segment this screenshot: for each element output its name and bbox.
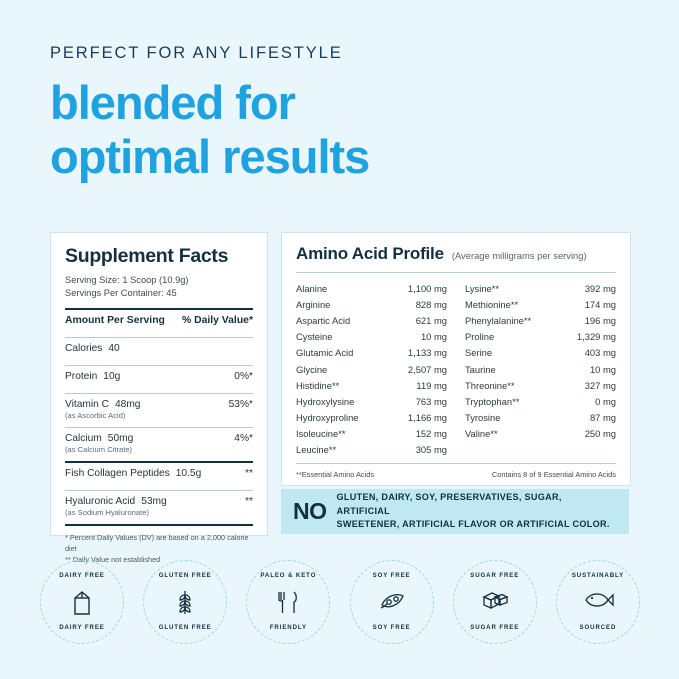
badge-bottom-label: SOY FREE <box>350 624 434 631</box>
amino-name: Methionine** <box>465 299 518 310</box>
amino-footnote-right: Contains 8 of 9 Essential Amino Acids <box>492 470 616 479</box>
amino-row: Histidine**119 mg <box>296 377 447 393</box>
badge-bottom-label: SOURCED <box>556 624 640 631</box>
amino-value: 828 mg <box>416 299 447 310</box>
headline-line-2: optimal results <box>50 133 369 181</box>
amino-row: Tyrosine87 mg <box>465 410 616 426</box>
amino-row: Proline1,329 mg <box>465 329 616 345</box>
headline-line-1: blended for <box>50 79 369 127</box>
badge-paleo-keto-friendly: PALEO & KETO FRIENDLY <box>246 560 330 644</box>
nutrient-name: Vitamin C <box>65 399 109 410</box>
amino-value: 327 mg <box>585 380 616 391</box>
amino-value: 305 mg <box>416 444 447 455</box>
nutrient-name: Calories <box>65 343 102 354</box>
amino-footnote-left: **Essential Amino Acids <box>296 470 374 479</box>
badge-top-label: SUGAR FREE <box>453 572 537 579</box>
amino-value: 196 mg <box>585 315 616 326</box>
amino-name: Taurine <box>465 364 496 375</box>
amino-name: Valine** <box>465 428 498 439</box>
supplement-facts-panel: Supplement Facts Serving Size: 1 Scoop (… <box>50 232 268 536</box>
amino-row: Valine**250 mg <box>465 426 616 442</box>
amino-row: Phenylalanine**196 mg <box>465 312 616 328</box>
amino-row: Glutamic Acid1,133 mg <box>296 345 447 361</box>
amino-value: 152 mg <box>416 428 447 439</box>
table-row: Calories40 <box>65 338 253 358</box>
nutrient-name: Hyaluronic Acid <box>65 496 135 507</box>
amino-name: Serine <box>465 347 492 358</box>
amino-row: Isoleucine**152 mg <box>296 426 447 442</box>
badge-soy-free: SOY FREE SOY FREE <box>350 560 434 644</box>
badge-sustainably-sourced: SUSTAINABLY SOURCED <box>556 560 640 644</box>
amino-name: Glycine <box>296 364 327 375</box>
amino-name: Leucine** <box>296 444 336 455</box>
nutrient-dv: 4%* <box>234 433 253 444</box>
amino-name: Cysteine <box>296 331 332 342</box>
badge-top-label: DAIRY FREE <box>40 572 124 579</box>
no-word: NO <box>293 498 327 525</box>
nutrient-dv: ** <box>245 468 253 479</box>
amino-name: Isoleucine** <box>296 428 346 439</box>
table-row: Fish Collagen Peptides10.5g ** <box>65 463 253 483</box>
amino-name: Arginine <box>296 299 330 310</box>
wheat-icon <box>143 587 227 622</box>
amino-name: Proline <box>465 331 494 342</box>
amino-name: Aspartic Acid <box>296 315 350 326</box>
nutrient-dv: ** <box>245 496 253 507</box>
amino-profile-note: (Average milligrams per serving) <box>452 250 587 261</box>
amino-value: 1,100 mg <box>408 283 447 294</box>
certification-badges: DAIRY FREE DAIRY FREE GLUTEN FREE <box>40 560 640 658</box>
footnote-daily-values: * Percent Daily Values (DV) are based on… <box>65 533 253 555</box>
nutrient-amount: 10g <box>97 371 120 382</box>
amino-name: Alanine <box>296 283 327 294</box>
amino-row: Tryptophan**0 mg <box>465 393 616 409</box>
amino-row: Alanine1,100 mg <box>296 280 447 296</box>
badge-top-label: SUSTAINABLY <box>556 572 640 579</box>
fork-knife-icon <box>246 587 330 622</box>
amino-row: Lysine**392 mg <box>465 280 616 296</box>
badge-dairy-free: DAIRY FREE DAIRY FREE <box>40 560 124 644</box>
amino-row: Methionine**174 mg <box>465 296 616 312</box>
amino-value: 392 mg <box>585 283 616 294</box>
no-text-line-2: SWEETENER, ARTIFICIAL FLAVOR OR ARTIFICI… <box>337 519 610 529</box>
servings-per-container: Servings Per Container: 45 <box>65 287 253 300</box>
badge-top-label: PALEO & KETO <box>246 572 330 579</box>
no-ingredients-banner: NO GLUTEN, DAIRY, SOY, PRESERVATIVES, SU… <box>281 489 629 534</box>
fish-icon <box>556 587 640 618</box>
amino-value: 87 mg <box>590 412 616 423</box>
nutrient-amount: 10.5g <box>170 468 202 479</box>
table-row: Protein10g 0%* <box>65 366 253 386</box>
amino-name: Tyrosine <box>465 412 500 423</box>
col-daily-value: % Daily Value* <box>182 315 253 326</box>
badge-bottom-label: DAIRY FREE <box>40 624 124 631</box>
amino-column-left: Alanine1,100 mg Arginine828 mg Aspartic … <box>296 280 447 458</box>
amino-name: Tryptophan** <box>465 396 519 407</box>
amino-name: Phenylalanine** <box>465 315 531 326</box>
amino-row: Hydroxylysine763 mg <box>296 393 447 409</box>
amino-value: 10 mg <box>590 364 616 375</box>
amino-row: Arginine828 mg <box>296 296 447 312</box>
eyebrow-text: PERFECT FOR ANY LIFESTYLE <box>50 44 369 63</box>
nutrient-amount: 48mg <box>109 399 140 410</box>
headline-block: PERFECT FOR ANY LIFESTYLE blended for op… <box>50 44 369 181</box>
amino-name: Lysine** <box>465 283 499 294</box>
nutrient-dv: 0%* <box>234 371 253 382</box>
nutrient-name: Calcium <box>65 433 102 444</box>
badge-bottom-label: FRIENDLY <box>246 624 330 631</box>
amino-name: Threonine** <box>465 380 515 391</box>
nutrient-dv: 53%* <box>229 399 253 410</box>
supplement-facts-title: Supplement Facts <box>65 245 253 268</box>
sugar-cubes-icon <box>453 587 537 620</box>
nutrient-name: Fish Collagen Peptides <box>65 468 170 479</box>
milk-carton-icon <box>40 587 124 622</box>
amino-name: Glutamic Acid <box>296 347 353 358</box>
amino-row: Threonine**327 mg <box>465 377 616 393</box>
amino-row: Glycine2,507 mg <box>296 361 447 377</box>
soy-bean-icon <box>350 587 434 620</box>
amino-value: 621 mg <box>416 315 447 326</box>
amino-value: 2,507 mg <box>408 364 447 375</box>
amino-value: 403 mg <box>585 347 616 358</box>
amino-name: Hydroxylysine <box>296 396 354 407</box>
nutrient-source: (as Calcium Citrate) <box>65 445 253 454</box>
badge-top-label: GLUTEN FREE <box>143 572 227 579</box>
table-header-row: Amount Per Serving % Daily Value* <box>65 310 253 330</box>
amino-row: Taurine10 mg <box>465 361 616 377</box>
badge-bottom-label: GLUTEN FREE <box>143 624 227 631</box>
nutrient-name: Protein <box>65 371 97 382</box>
supplement-label-page: PERFECT FOR ANY LIFESTYLE blended for op… <box>0 0 679 679</box>
serving-size: Serving Size: 1 Scoop (10.9g) <box>65 274 253 287</box>
amino-value: 174 mg <box>585 299 616 310</box>
nutrient-source: (as Sodium Hyaluronate) <box>65 508 253 517</box>
amino-row: Cysteine10 mg <box>296 329 447 345</box>
amino-row: Hydroxyproline1,166 mg <box>296 410 447 426</box>
badge-top-label: SOY FREE <box>350 572 434 579</box>
amino-value: 763 mg <box>416 396 447 407</box>
amino-name: Histidine** <box>296 380 339 391</box>
nutrient-amount: 50mg <box>102 433 133 444</box>
badge-gluten-free: GLUTEN FREE GLUTEN FREE <box>143 560 227 644</box>
nutrient-amount: 53mg <box>135 496 166 507</box>
amino-name: Hydroxyproline <box>296 412 359 423</box>
amino-value: 1,133 mg <box>408 347 447 358</box>
amino-value: 1,329 mg <box>577 331 616 342</box>
nutrient-source: (as Ascorbic Acid) <box>65 411 253 420</box>
amino-value: 250 mg <box>585 428 616 439</box>
amino-profile-title: Amino Acid Profile <box>296 244 444 264</box>
amino-column-right: Lysine**392 mg Methionine**174 mg Phenyl… <box>465 280 616 458</box>
no-text-line-1: GLUTEN, DAIRY, SOY, PRESERVATIVES, SUGAR… <box>337 492 562 516</box>
col-amount-per-serving: Amount Per Serving <box>65 315 165 326</box>
divider <box>65 524 253 526</box>
amino-row: Serine403 mg <box>465 345 616 361</box>
amino-row: Leucine**305 mg <box>296 442 447 458</box>
nutrient-amount: 40 <box>102 343 119 354</box>
amino-value: 119 mg <box>416 380 447 391</box>
amino-value: 0 mg <box>595 396 616 407</box>
badge-bottom-label: SUGAR FREE <box>453 624 537 631</box>
amino-row: Aspartic Acid621 mg <box>296 312 447 328</box>
badge-sugar-free: SUGAR FREE SUGAR FREE <box>453 560 537 644</box>
amino-acid-profile-panel: Amino Acid Profile (Average milligrams p… <box>281 232 631 486</box>
amino-value: 1,166 mg <box>408 412 447 423</box>
amino-value: 10 mg <box>421 331 447 342</box>
